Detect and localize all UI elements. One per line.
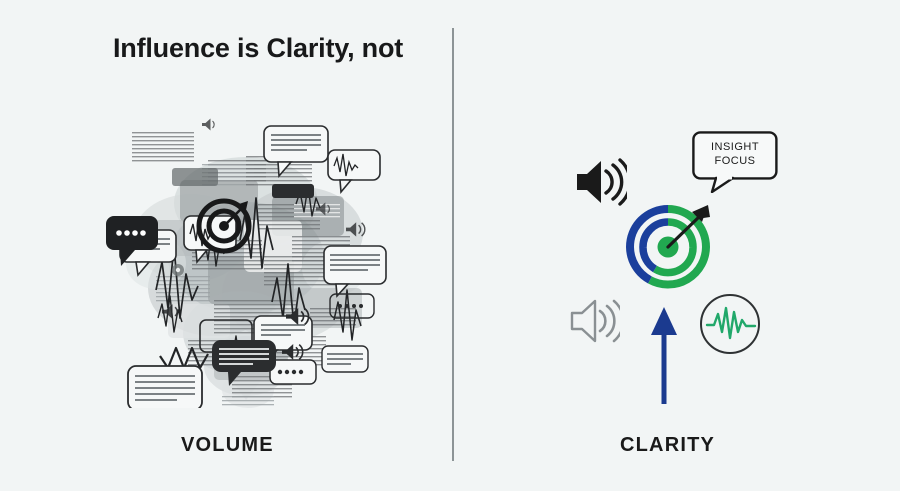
volume-caption: VOLUME — [181, 434, 274, 457]
arrow-up-icon — [646, 305, 684, 404]
insight-focus-bubble-label: INSIGHT FOCUS — [692, 141, 778, 168]
clarity-caption: CLARITY — [620, 434, 715, 457]
target-icon-grayscale — [199, 201, 249, 251]
bubble-line-2: FOCUS — [692, 155, 778, 169]
page-title: Influence is Clarity, not — [113, 33, 403, 64]
slide-canvas: Influence is Clarity, not — [0, 0, 900, 491]
speaker-soft-icon — [570, 298, 620, 344]
speaker-loud-icon — [575, 158, 627, 206]
waveform-circle-icon — [699, 293, 761, 355]
clarity-panel: INSIGHT FOCUS — [452, 0, 900, 491]
target-arrow-icon — [624, 203, 720, 295]
bubble-line-1: INSIGHT — [692, 141, 778, 155]
volume-noise-cluster — [96, 108, 388, 408]
